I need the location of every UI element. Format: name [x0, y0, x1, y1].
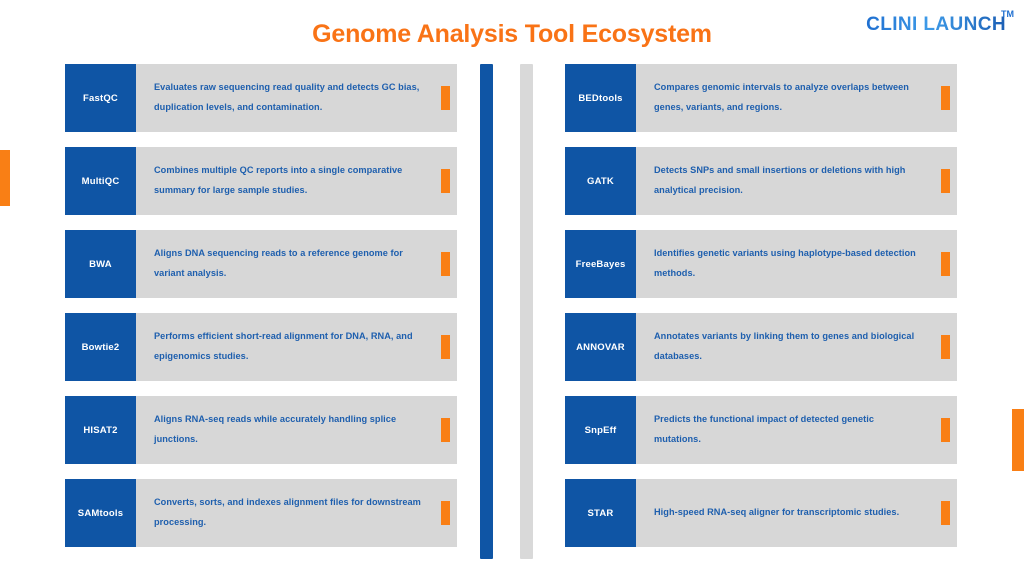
tool-card[interactable]: STARHigh-speed RNA-seq aligner for trans…	[565, 479, 957, 547]
tool-name-label: BWA	[65, 230, 136, 298]
tool-card[interactable]: FreeBayesIdentifies genetic variants usi…	[565, 230, 957, 298]
tool-description: High-speed RNA-seq aligner for transcrip…	[636, 479, 957, 547]
tool-card[interactable]: BEDtoolsCompares genomic intervals to an…	[565, 64, 957, 132]
tool-description: Aligns DNA sequencing reads to a referen…	[136, 230, 457, 298]
tool-column-left: FastQCEvaluates raw sequencing read qual…	[65, 64, 457, 562]
tool-name-label: ANNOVAR	[565, 313, 636, 381]
trademark-symbol: TM	[1001, 9, 1014, 19]
tool-description: Detects SNPs and small insertions or del…	[636, 147, 957, 215]
tool-name-label: SAMtools	[65, 479, 136, 547]
card-accent-marker	[941, 335, 950, 359]
card-accent-marker	[941, 418, 950, 442]
tool-name-label: MultiQC	[65, 147, 136, 215]
card-accent-marker	[941, 501, 950, 525]
tool-column-right: BEDtoolsCompares genomic intervals to an…	[565, 64, 957, 562]
tool-description: Identifies genetic variants using haplot…	[636, 230, 957, 298]
tool-card[interactable]: HISAT2Aligns RNA-seq reads while accurat…	[65, 396, 457, 464]
tool-name-label: Bowtie2	[65, 313, 136, 381]
left-edge-accent-bar	[0, 150, 10, 206]
tool-name-label: FreeBayes	[565, 230, 636, 298]
tool-card[interactable]: Bowtie2Performs efficient short-read ali…	[65, 313, 457, 381]
tool-description: Annotates variants by linking them to ge…	[636, 313, 957, 381]
tool-name-label: BEDtools	[565, 64, 636, 132]
center-divider-gray	[520, 64, 533, 559]
card-accent-marker	[441, 418, 450, 442]
tool-name-label: FastQC	[65, 64, 136, 132]
tool-name-label: GATK	[565, 147, 636, 215]
tool-description: Aligns RNA-seq reads while accurately ha…	[136, 396, 457, 464]
right-edge-accent-bar	[1012, 409, 1024, 471]
card-accent-marker	[941, 169, 950, 193]
card-accent-marker	[441, 169, 450, 193]
card-accent-marker	[441, 501, 450, 525]
tool-card[interactable]: SnpEffPredicts the functional impact of …	[565, 396, 957, 464]
tool-description: Performs efficient short-read alignment …	[136, 313, 457, 381]
tool-name-label: STAR	[565, 479, 636, 547]
tool-card[interactable]: ANNOVARAnnotates variants by linking the…	[565, 313, 957, 381]
header: Genome Analysis Tool Ecosystem CLINI LAU…	[0, 0, 1024, 60]
tool-name-label: SnpEff	[565, 396, 636, 464]
tool-description: Compares genomic intervals to analyze ov…	[636, 64, 957, 132]
card-accent-marker	[941, 86, 950, 110]
card-accent-marker	[441, 335, 450, 359]
tool-description: Predicts the functional impact of detect…	[636, 396, 957, 464]
tool-name-label: HISAT2	[65, 396, 136, 464]
card-accent-marker	[441, 252, 450, 276]
tool-description: Combines multiple QC reports into a sing…	[136, 147, 457, 215]
tool-card[interactable]: BWAAligns DNA sequencing reads to a refe…	[65, 230, 457, 298]
card-accent-marker	[941, 252, 950, 276]
tool-description: Converts, sorts, and indexes alignment f…	[136, 479, 457, 547]
tool-card[interactable]: FastQCEvaluates raw sequencing read qual…	[65, 64, 457, 132]
tool-card[interactable]: MultiQCCombines multiple QC reports into…	[65, 147, 457, 215]
center-divider-blue	[480, 64, 493, 559]
tool-card[interactable]: SAMtoolsConverts, sorts, and indexes ali…	[65, 479, 457, 547]
tool-card[interactable]: GATKDetects SNPs and small insertions or…	[565, 147, 957, 215]
brand-logo: CLINI LAUNCH	[866, 14, 1006, 36]
tool-description: Evaluates raw sequencing read quality an…	[136, 64, 457, 132]
card-accent-marker	[441, 86, 450, 110]
